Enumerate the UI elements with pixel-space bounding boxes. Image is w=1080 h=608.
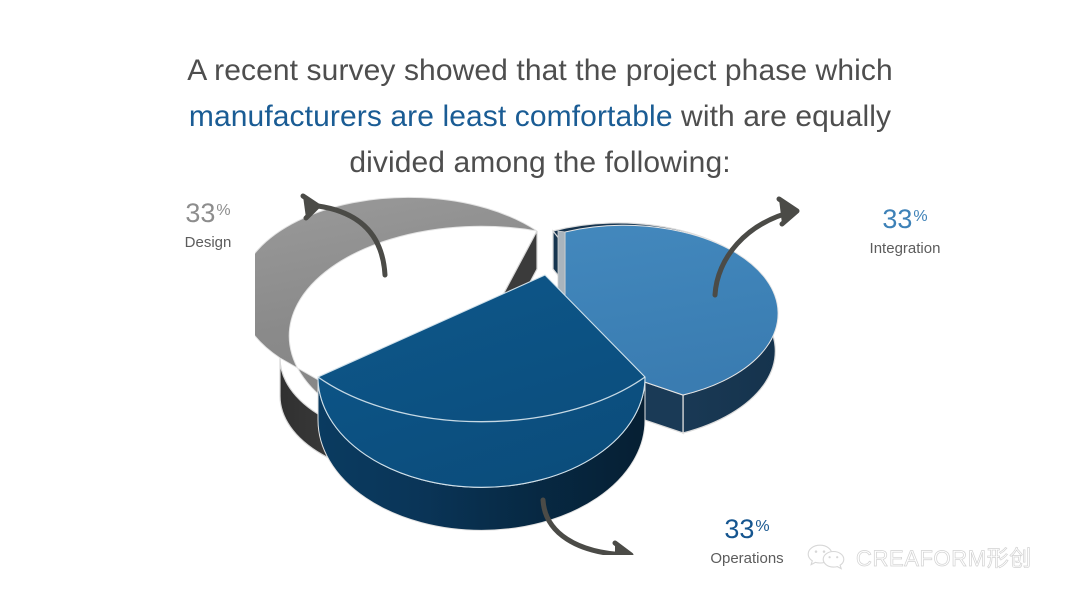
pie-chart-graphic [255,185,835,555]
operations-percent: 33% [682,512,812,544]
wechat-icon [806,542,848,572]
watermark-text: CREAFORM形创 [856,541,1032,573]
callout-integration: 33% Integration [840,202,970,260]
operations-label: Operations [682,548,812,570]
callout-operations: 33% Operations [682,512,812,570]
design-label: Design [143,232,273,254]
callout-design: 33% Design [143,196,273,254]
pie-chart: 33% Design 33% Integration 33% Operation… [0,0,1080,608]
wechat-watermark: CREAFORM形创 [806,541,1032,573]
integration-percent: 33% [840,202,970,234]
design-percent: 33% [143,196,273,228]
integration-label: Integration [840,238,970,260]
